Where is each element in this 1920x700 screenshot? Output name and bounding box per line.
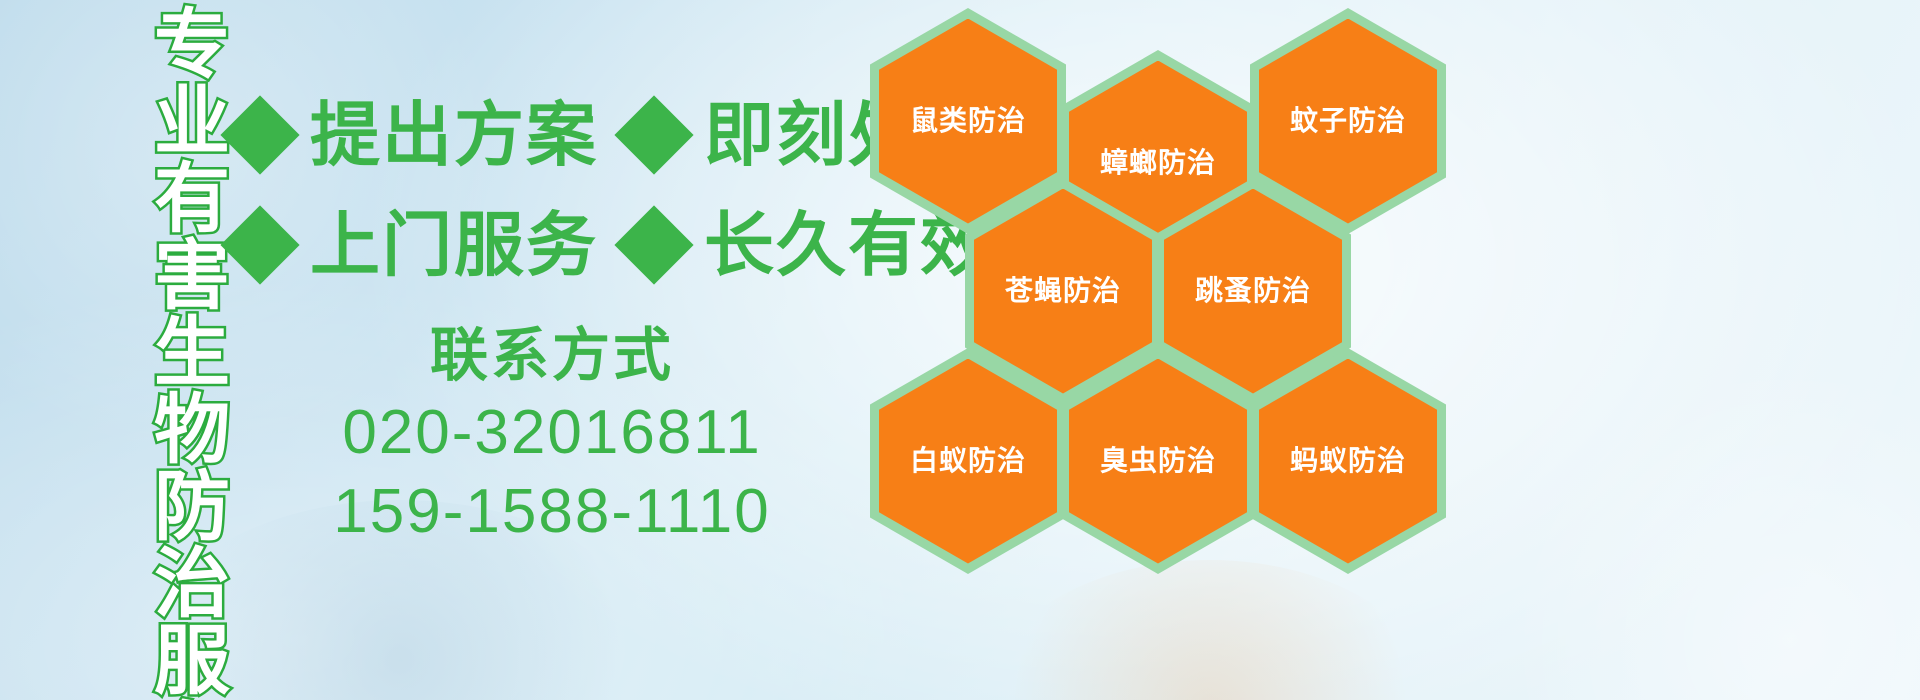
vertical-brand-title: 专业有害生物防治服务 <box>112 4 220 700</box>
service-label: 蚂蚁防治 <box>1290 447 1406 475</box>
feature-list: 提出方案 即刻处理 上门服务 长久有效 <box>232 80 872 300</box>
contact-block: 联系方式 020-32016811 159-1588-1110 <box>232 320 872 551</box>
service-label: 白蚁防治 <box>910 447 1026 475</box>
service-label: 蚊子防治 <box>1290 107 1406 135</box>
phone-number-mobile[interactable]: 159-1588-1110 <box>232 472 872 551</box>
feature-label: 上门服务 <box>310 210 598 280</box>
service-label: 苍蝇防治 <box>1005 277 1121 305</box>
background-glow-bottom-right <box>1480 380 1920 700</box>
hex-inner: 苍蝇防治 <box>974 189 1152 394</box>
diamond-icon <box>220 205 299 284</box>
hex-inner: 臭虫防治 <box>1069 359 1247 564</box>
service-label: 鼠类防治 <box>910 107 1026 135</box>
hex-inner: 白蚁防治 <box>879 359 1057 564</box>
service-label: 臭虫防治 <box>1100 447 1216 475</box>
feature-label: 提出方案 <box>310 100 598 170</box>
hex-inner: 鼠类防治 <box>879 19 1057 224</box>
background-glow-orange <box>980 560 1440 700</box>
service-hexagon-grid: 鼠类防治 蟑螂防治 蚊子防治 苍蝇防治 跳蚤防治 白蚁防治 <box>862 0 1462 560</box>
diamond-icon <box>614 205 693 284</box>
hex-inner: 蚂蚁防治 <box>1259 359 1437 564</box>
diamond-icon <box>220 95 299 174</box>
hex-inner: 跳蚤防治 <box>1164 189 1342 394</box>
phone-number-landline[interactable]: 020-32016811 <box>232 393 872 472</box>
feature-row: 提出方案 即刻处理 <box>232 80 872 190</box>
hex-inner: 蚊子防治 <box>1259 19 1437 224</box>
pest-control-banner: 专业有害生物防治服务 提出方案 即刻处理 上门服务 长久有效 联系方式 020-… <box>0 0 1920 700</box>
diamond-icon <box>614 95 693 174</box>
service-label: 蟑螂防治 <box>1100 149 1216 177</box>
service-label: 跳蚤防治 <box>1195 277 1311 305</box>
contact-title: 联系方式 <box>232 320 872 393</box>
feature-row: 上门服务 长久有效 <box>232 190 872 300</box>
